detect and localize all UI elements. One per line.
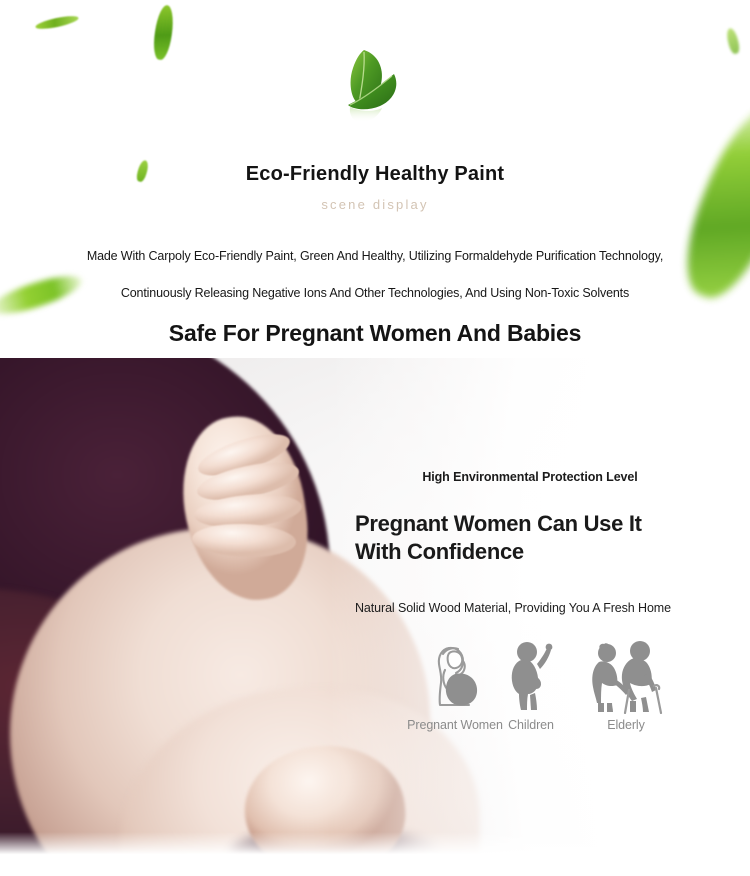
audience-item-pregnant-women: Pregnant Women	[425, 640, 491, 714]
hero-description-line-2: Continuously Releasing Negative Ions And…	[0, 286, 750, 300]
child-icon	[503, 640, 559, 714]
audience-icon-row: Pregnant Women Children	[410, 640, 700, 750]
leaf-blade-icon	[35, 14, 80, 32]
pregnant-woman-photo-section: High Environmental Protection Level Preg…	[0, 358, 750, 858]
hero-description-line-1: Made With Carpoly Eco-Friendly Paint, Gr…	[0, 249, 750, 263]
copy-note: Natural Solid Wood Material, Providing Y…	[355, 601, 705, 615]
leaf-blade-icon	[151, 4, 175, 61]
leaf-blade-icon	[725, 27, 741, 55]
audience-item-elderly: Elderly	[585, 640, 667, 714]
photo-copy-block: High Environmental Protection Level Preg…	[355, 470, 705, 615]
audience-label-children: Children	[508, 718, 554, 732]
elderly-couple-icon	[585, 640, 667, 714]
pregnant-woman-icon	[425, 640, 491, 714]
copy-eyebrow: High Environmental Protection Level	[355, 470, 705, 484]
footer-whitespace	[0, 858, 750, 876]
audience-item-children: Children	[503, 640, 559, 714]
copy-heading: Pregnant Women Can Use It With Confidenc…	[355, 510, 685, 565]
product-detail-page: Eco-Friendly Healthy Paint scene display…	[0, 0, 750, 876]
audience-label-pregnant-women: Pregnant Women	[407, 718, 503, 732]
page-title: Eco-Friendly Healthy Paint	[0, 163, 750, 186]
hero-subtitle: scene display	[0, 197, 750, 212]
two-green-leaves-logo-icon	[320, 42, 430, 134]
hero-section: Eco-Friendly Healthy Paint scene display…	[0, 0, 750, 358]
audience-label-elderly: Elderly	[607, 718, 645, 732]
hero-headline: Safe For Pregnant Women And Babies	[0, 320, 750, 347]
